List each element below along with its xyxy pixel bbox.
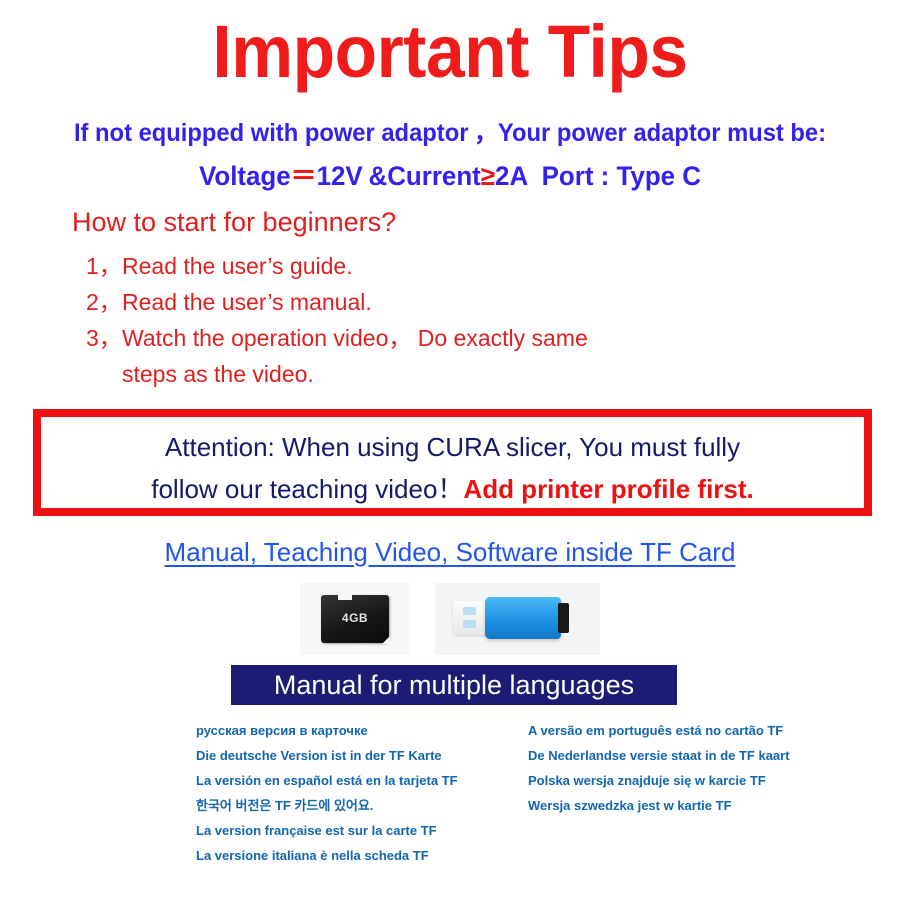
attention-line-2: follow our teaching video！Add printer pr… [41,468,864,510]
language-item-french: La version française est sur la carte TF [196,818,516,843]
step-item-1: 1，Read the user’s guide. [86,248,588,284]
language-item-german: Die deutsche Version ist in der TF Karte [196,743,516,768]
languages-column-right: A versão em português está no cartão TF … [528,718,858,818]
usb-pin-bottom [463,620,476,628]
microsd-card-photo: 4GB [300,583,410,655]
microsd-card-notch [338,594,352,600]
usb-card-reader-photo [435,583,600,655]
microsd-card-corner [382,636,390,644]
languages-column-left: русская версия в карточке Die deutsche V… [196,718,516,868]
adaptor-requirement-line-1: If not equipped with power adaptor，Your … [23,117,878,149]
adaptor-line1-part2: Your power adaptor must be: [498,119,826,147]
attention-box: Attention: When using CURA slicer, You m… [33,409,872,516]
microsd-card-body: 4GB [321,595,389,643]
port-label: Port : Type C [542,161,701,191]
voltage-value: 12V [317,161,363,191]
language-item-korean: 한국어 버전은 TF 카드에 있어요. [196,793,516,818]
step-item-2: 2，Read the user’s manual. [86,284,588,320]
equals-symbol: ＝ [291,161,317,191]
language-item-swedish: Wersja szwedzka jest w kartie TF [528,793,858,818]
voltage-label: Voltage [199,161,291,191]
step-text-1: Read the user’s guide. [122,253,353,279]
current-value: 2A [495,161,528,191]
language-item-portuguese: A versão em português está no cartão TF [528,718,858,743]
current-label: &Current [368,161,480,191]
manual-languages-banner-text: Manual for multiple languages [231,669,677,702]
important-tips-poster: Important Tips If not equipped with powe… [0,0,900,900]
greater-equal-symbol: ≥ [481,161,495,191]
tf-card-contents-text: Manual, Teaching Video, Software inside … [165,537,736,567]
language-item-dutch: De Nederlandse versie staat in de TF kaa… [528,743,858,768]
tf-card-contents-line: Manual, Teaching Video, Software inside … [0,535,900,569]
step-number-3: 3， [86,320,122,356]
manual-languages-banner: Manual for multiple languages [231,665,677,705]
adaptor-line1-part1: If not equipped with power adaptor [74,119,469,147]
how-to-start-heading: How to start for beginners? [72,203,396,241]
attention-line-2-navy: follow our teaching video！ [151,474,463,504]
attention-line-2-red: Add printer profile first. [463,474,753,504]
usb-reader-end-cap [558,603,569,633]
page-title: Important Tips [27,8,873,96]
step-item-3: 3，Watch the operation video， Do exactly … [86,320,588,356]
usb-pin-top [463,607,476,615]
step-number-1: 1， [86,248,122,284]
attention-line-1: Attention: When using CURA slicer, You m… [41,426,864,468]
attention-text: Attention: When using CURA slicer, You m… [41,426,864,510]
adaptor-line1-comma: ， [474,119,498,147]
step-text-3: Watch the operation video， Do exactly sa… [122,325,588,351]
language-item-russian: русская версия в карточке [196,718,516,743]
adaptor-requirement-line-2: Voltage＝12V&Current≥2APort : Type C [18,159,882,193]
step-item-3-continued: steps as the video. [86,356,588,392]
microsd-capacity-label: 4GB [321,611,389,625]
language-item-spanish: La versión en español está en la tarjeta… [196,768,516,793]
step-text-2: Read the user’s manual. [122,289,372,315]
usb-reader-body [485,597,561,639]
product-photos: 4GB [290,583,620,661]
step-number-2: 2， [86,284,122,320]
language-item-italian: La versione italiana è nella scheda TF [196,843,516,868]
how-to-start-steps: 1，Read the user’s guide. 2，Read the user… [86,248,588,392]
step-text-3-continued: steps as the video. [86,356,314,392]
language-item-polish: Polska wersja znajduje się w karcie TF [528,768,858,793]
